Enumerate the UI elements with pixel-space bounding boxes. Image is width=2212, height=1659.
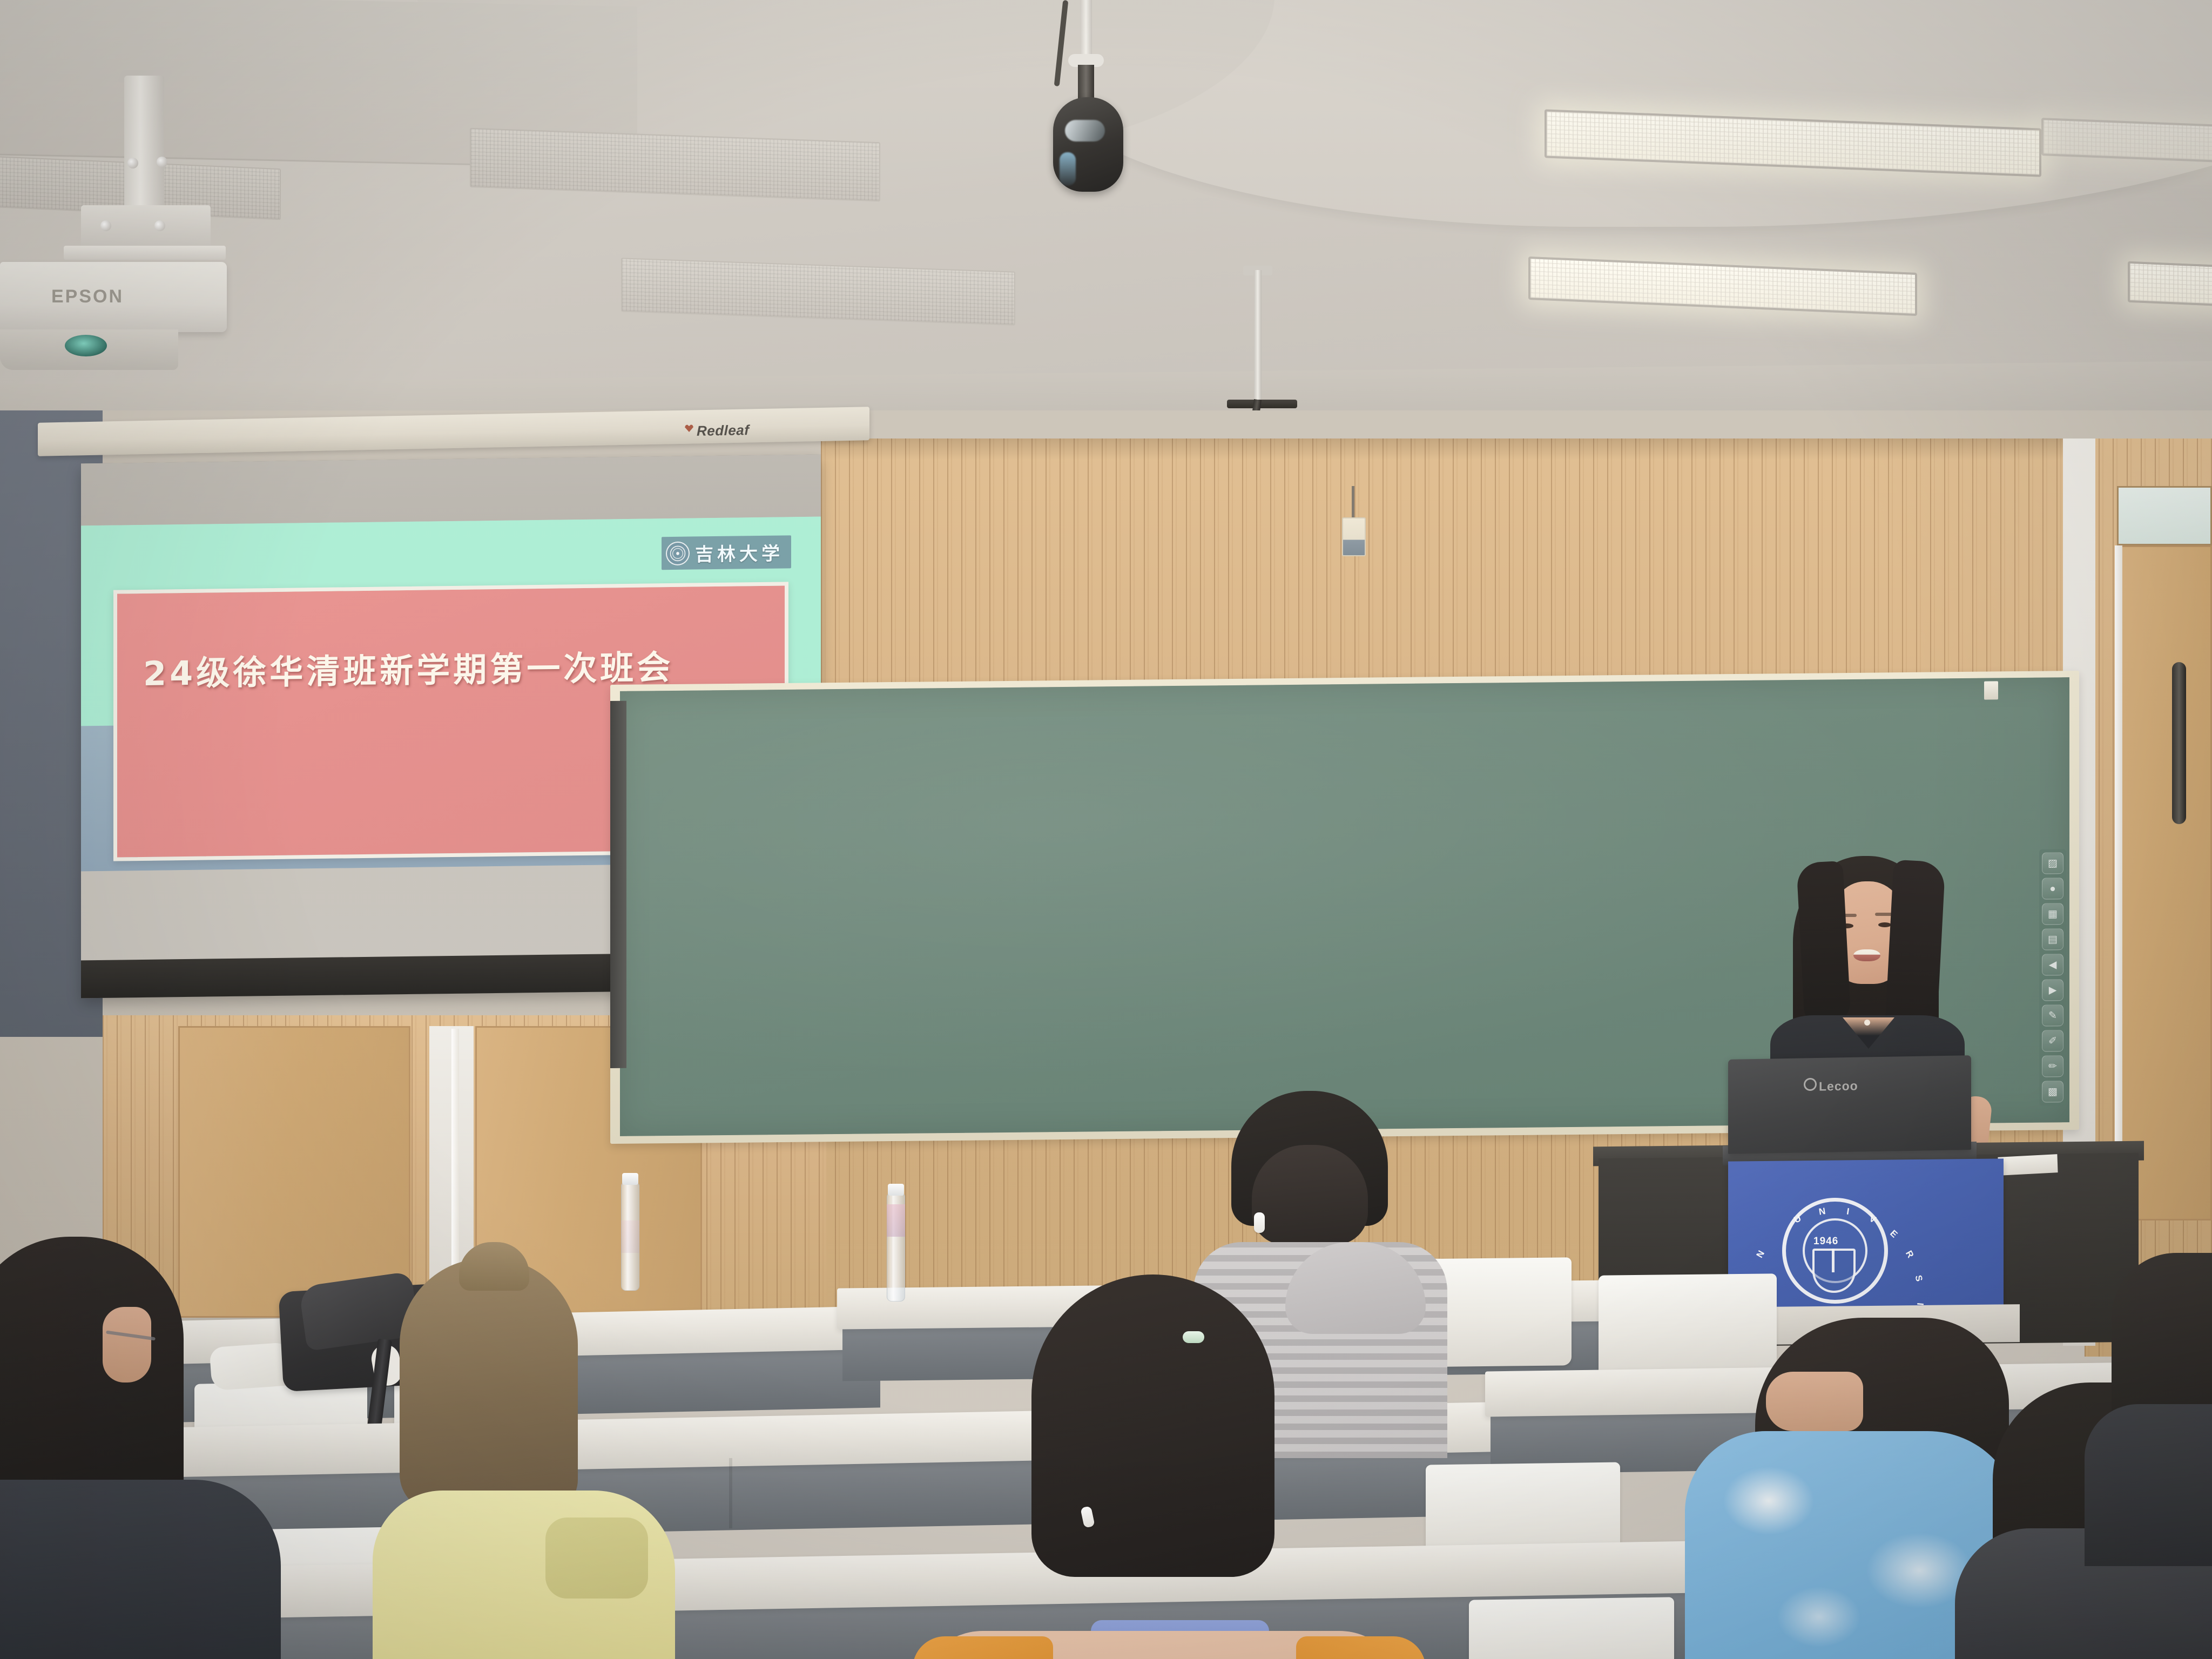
wall-sensor-icon <box>1342 517 1366 556</box>
presenter-necklace <box>1864 1020 1870 1026</box>
blackboard-left-edge <box>610 701 626 1068</box>
projector-lens <box>65 335 107 356</box>
ceiling-camera-lens-reflection <box>1065 120 1105 141</box>
eraser-icon[interactable]: ▨ <box>2042 852 2063 874</box>
record-icon[interactable]: ● <box>2042 878 2063 899</box>
projector-screw <box>154 220 165 231</box>
student-yellow-fold <box>545 1518 648 1599</box>
side-door-right[interactable] <box>2117 545 2212 1220</box>
prev-icon[interactable]: ◀ <box>2042 954 2063 975</box>
door-gap-light <box>2115 545 2122 1199</box>
presenter-hair-strand-right <box>1884 860 1945 1041</box>
chair[interactable] <box>1469 1597 1674 1659</box>
classroom-photo: EPSON Redleaf 吉林大学 <box>0 0 2212 1659</box>
student-orange-sleeve-right <box>1296 1636 1426 1659</box>
wall-shadow <box>821 439 2128 460</box>
projector-brand-label: EPSON <box>51 286 124 307</box>
projector-screw <box>100 220 111 231</box>
university-name-label: 吉林大学 <box>695 538 784 566</box>
presenter-eye-right <box>1878 922 1891 927</box>
desk-divider <box>729 1458 732 1528</box>
laptop-icon[interactable] <box>1728 1055 1971 1154</box>
ceiling-light-panel <box>2128 261 2212 309</box>
presenter-mouth <box>1853 949 1880 961</box>
screen-top-margin <box>81 455 821 526</box>
seal-shield-bar <box>1832 1249 1835 1272</box>
projector-screw <box>157 157 167 167</box>
earbud-icon <box>1254 1212 1265 1233</box>
blackboard-control-strip[interactable]: ▨ ● ▦ ▤ ◀ ▶ ✎ ✐ ✏ ▩ <box>2039 849 2066 1105</box>
marker-icon[interactable]: ✐ <box>2042 1030 2063 1051</box>
ceiling-light-panel <box>2041 118 2212 163</box>
apps-icon[interactable]: ▤ <box>2042 928 2063 950</box>
jilin-university-seal-icon <box>666 541 690 565</box>
presenter-hair-strand-left <box>1796 861 1851 1025</box>
door-handle[interactable] <box>2172 662 2186 824</box>
ceiling-mount-rod <box>1254 270 1262 402</box>
screen-brand-label: Redleaf <box>697 422 749 440</box>
student-orange-sleeve-left <box>913 1636 1053 1659</box>
highlighter-icon[interactable]: ✏ <box>2042 1055 2063 1077</box>
student-front-left-body <box>0 1480 281 1659</box>
student-tiedye-neck <box>1766 1372 1863 1431</box>
blackboard-clip <box>1984 681 1998 699</box>
rear-door-left[interactable] <box>178 1026 410 1318</box>
next-icon[interactable]: ▶ <box>2042 979 2063 1001</box>
student-front-left-hair <box>0 1237 184 1518</box>
ceiling-camera-lens-reflection <box>1060 152 1076 186</box>
seal-year-label: 1946 <box>1813 1236 1838 1247</box>
door-transom-window <box>2117 486 2212 545</box>
chair[interactable] <box>1599 1273 1777 1383</box>
student-grey-hoodie-head <box>1252 1145 1368 1245</box>
wall-sensor-wire <box>1352 486 1354 520</box>
hair-tie <box>1183 1331 1204 1343</box>
projector-screw <box>127 158 138 168</box>
projector-ceiling-pole <box>124 76 164 211</box>
student-yellow-hair <box>400 1258 578 1512</box>
laptop-brand-label: Lecoo <box>1819 1078 1858 1094</box>
bottle-cap <box>888 1184 904 1196</box>
student-front-left-face <box>103 1307 151 1382</box>
keypad-icon[interactable]: ▩ <box>2042 1081 2063 1102</box>
pen-icon[interactable]: ✎ <box>2042 1004 2063 1026</box>
student-far-right-body <box>2085 1404 2212 1566</box>
student-orange-hair <box>1031 1274 1274 1577</box>
ceiling-mount-arm <box>1227 400 1297 408</box>
slide-university-logo: 吉林大学 <box>662 535 791 570</box>
bottle-label <box>621 1220 639 1253</box>
lectern-paper <box>1998 1154 2058 1176</box>
grid-icon[interactable]: ▦ <box>2042 903 2063 925</box>
bottle-label <box>887 1204 905 1237</box>
bottle-cap <box>622 1173 638 1185</box>
projector-bracket-plate <box>64 246 226 260</box>
